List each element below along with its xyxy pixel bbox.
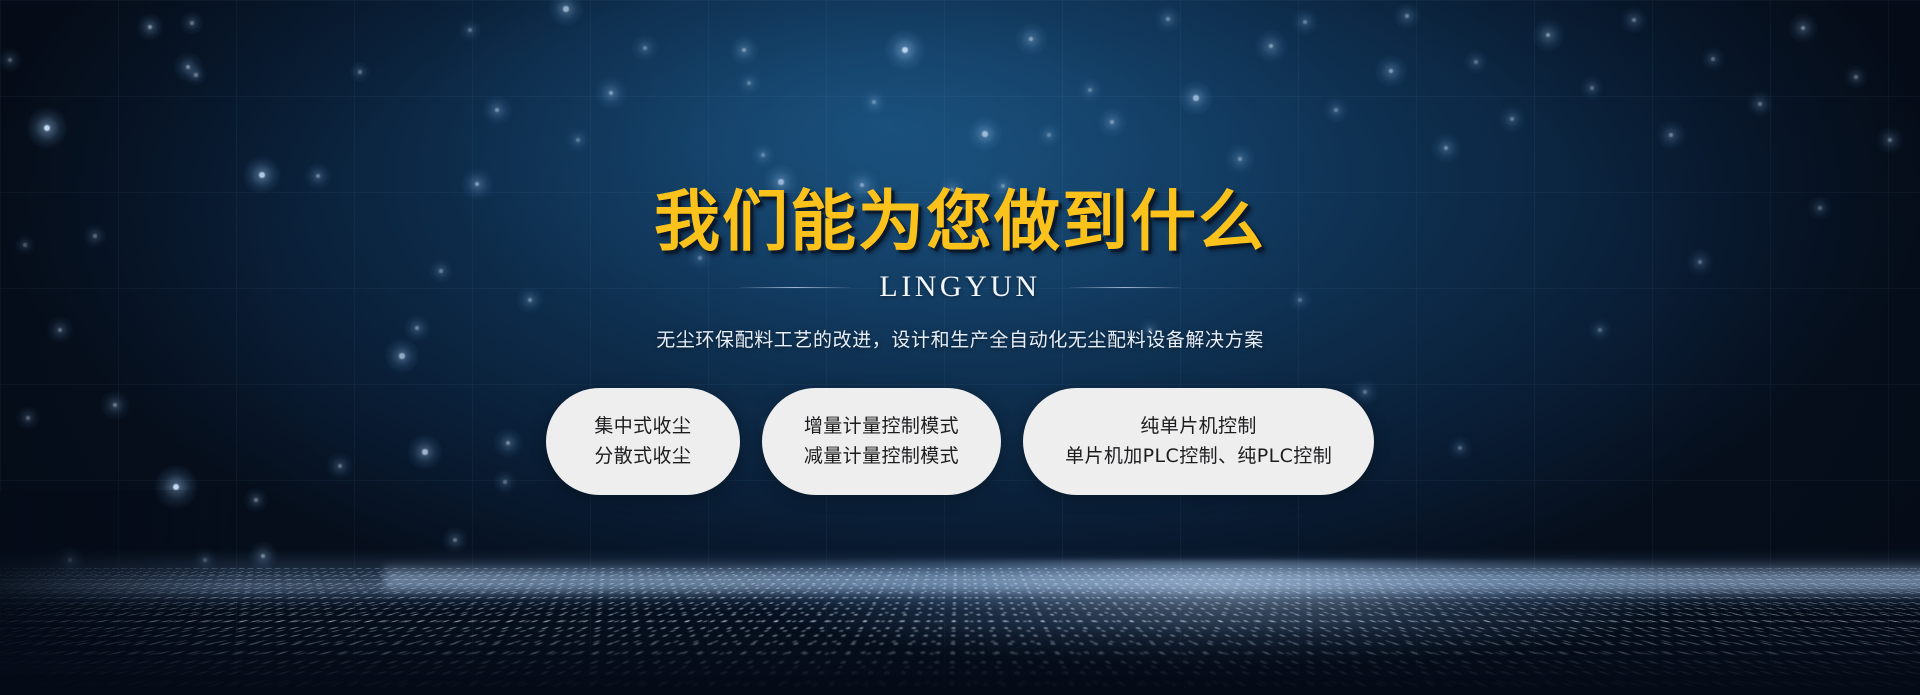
feature-pill-list: 集中式收尘 分散式收尘 增量计量控制模式 减量计量控制模式 纯单片机控制 单片机… (546, 388, 1374, 495)
feature-pill-dust-collection[interactable]: 集中式收尘 分散式收尘 (546, 388, 740, 495)
pill-line-primary: 集中式收尘 (594, 417, 691, 436)
banner-description: 无尘环保配料工艺的改进，设计和生产全自动化无尘配料设备解决方案 (656, 325, 1264, 352)
divider-right (1069, 287, 1181, 288)
divider-left (739, 287, 851, 288)
feature-pill-control-system[interactable]: 纯单片机控制 单片机加PLC控制、纯PLC控制 (1023, 388, 1374, 495)
banner-headline: 我们能为您做到什么 (654, 189, 1266, 255)
pill-line-primary: 增量计量控制模式 (804, 417, 959, 436)
pill-line-secondary: 单片机加PLC控制、纯PLC控制 (1065, 447, 1332, 466)
pill-line-primary: 纯单片机控制 (1140, 417, 1256, 436)
brand-subline: LINGYUN (739, 272, 1180, 302)
pill-line-secondary: 分散式收尘 (594, 447, 691, 466)
pill-line-secondary: 减量计量控制模式 (804, 447, 959, 466)
banner-content: 我们能为您做到什么 LINGYUN 无尘环保配料工艺的改进，设计和生产全自动化无… (0, 0, 1920, 695)
brand-name: LINGYUN (879, 272, 1040, 302)
feature-pill-metering-mode[interactable]: 增量计量控制模式 减量计量控制模式 (762, 388, 1001, 495)
hero-banner: 我们能为您做到什么 LINGYUN 无尘环保配料工艺的改进，设计和生产全自动化无… (0, 0, 1920, 695)
